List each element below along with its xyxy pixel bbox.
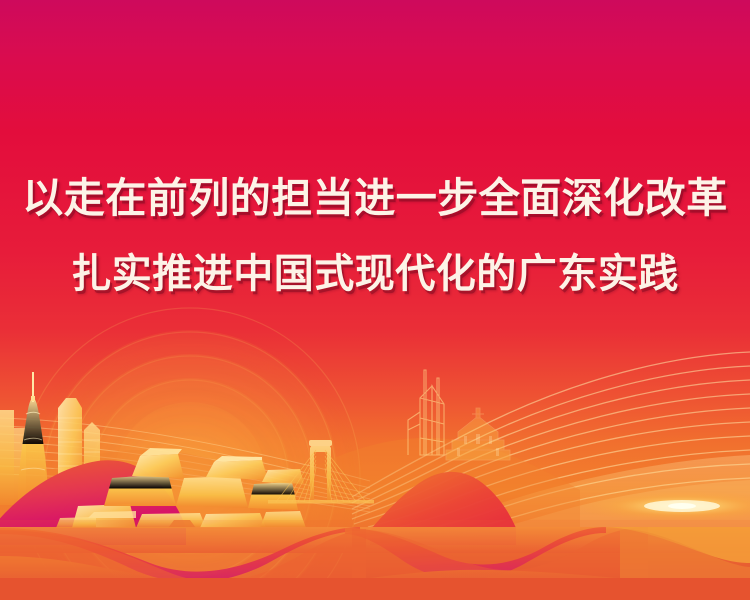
- tower-block-a: [0, 410, 14, 505]
- bridge-deck: [268, 500, 374, 504]
- background-illustration: [0, 0, 750, 600]
- bottom-overlay: [0, 520, 750, 600]
- promotional-banner: 以走在前列的担当进一步全面深化改革 扎实推进中国式现代化的广东实践: [0, 0, 750, 600]
